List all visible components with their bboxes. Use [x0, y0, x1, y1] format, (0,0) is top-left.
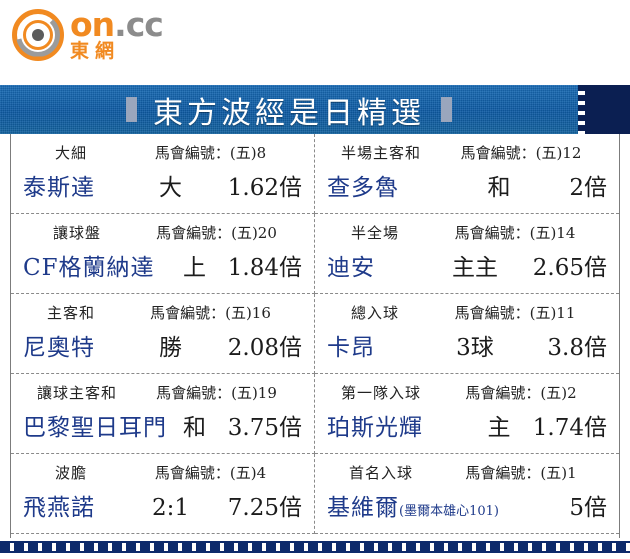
odds-value: 7.25倍: [198, 488, 302, 522]
row-header: 讓球主客和 馬會編號：(五)19: [23, 378, 302, 403]
odds-value: 2倍: [511, 168, 607, 202]
team-name: 珀斯光輝: [327, 408, 487, 442]
odds-value: 2.65倍: [503, 248, 607, 282]
bottom-dashed-strip: [0, 541, 630, 553]
row-header: 總入球 馬會編號：(五)11: [327, 298, 607, 323]
bet-type-label: 首名入球: [327, 462, 435, 483]
bet-type-label: 波膽: [23, 462, 119, 483]
row-header: 首名入球 馬會編號：(五)1: [327, 458, 607, 483]
row-selection: 珀斯光輝 主 1.74倍: [327, 408, 607, 442]
bet-type-label: 讓球主客和: [23, 382, 131, 403]
row-selection: 泰斯達 大 1.62倍: [23, 168, 302, 202]
table-row[interactable]: 第一隊入球 馬會編號：(五)2 珀斯光輝 主 1.74倍: [315, 374, 619, 454]
bottom-white-spacer: [0, 553, 630, 559]
team-name-note: (墨爾本雄心101): [399, 504, 499, 519]
row-selection: 巴黎聖日耳門 和 3.75倍: [23, 408, 302, 442]
row-header: 讓球盤 馬會編號：(五)20: [23, 218, 302, 243]
bet-type-label: 總入球: [327, 302, 423, 323]
jockey-club-number: 馬會編號：(五)8: [119, 142, 302, 163]
selection-choice: 主: [487, 408, 511, 442]
jockey-club-number: 馬會編號：(五)12: [435, 142, 607, 163]
team-name: 尼奧特: [23, 328, 143, 362]
row-selection: 查多魯 和 2倍: [327, 168, 607, 202]
bet-type-label: 讓球盤: [23, 222, 131, 243]
selection-choice: 上: [183, 248, 206, 282]
team-name: 迪安: [327, 248, 447, 282]
odds-value: 2.08倍: [198, 328, 302, 362]
table-row[interactable]: 波膽 馬會編號：(五)4 飛燕諾 2:1 7.25倍: [11, 454, 315, 534]
jockey-club-number: 馬會編號：(五)4: [119, 462, 302, 483]
team-name: 巴黎聖日耳門: [23, 408, 183, 442]
table-row[interactable]: 半全場 馬會編號：(五)14 迪安 主主 2.65倍: [315, 214, 619, 294]
table-row[interactable]: 總入球 馬會編號：(五)11 卡昂 3球 3.8倍: [315, 294, 619, 374]
bet-type-label: 半全場: [327, 222, 423, 243]
logo-text-on: on: [70, 5, 114, 44]
team-name: 查多魯: [327, 168, 487, 202]
jockey-club-number: 馬會編號：(五)20: [131, 222, 302, 243]
odds-value: 1.62倍: [198, 168, 302, 202]
banner-square-right-icon: [441, 97, 452, 122]
logo-wordmark: on.cc 東網: [70, 8, 163, 61]
selection-choice: 勝: [143, 328, 198, 362]
row-selection: 基維爾(墨爾本雄心101) 5倍: [327, 488, 607, 522]
row-selection: 迪安 主主 2.65倍: [327, 248, 607, 282]
banner-dash-separator: [578, 85, 585, 134]
row-header: 大細 馬會編號：(五)8: [23, 138, 302, 163]
team-name: 基維爾(墨爾本雄心101): [327, 488, 499, 522]
jockey-club-number: 馬會編號：(五)19: [131, 382, 302, 403]
selection-choice: 3球: [447, 328, 503, 362]
oncc-logo[interactable]: on.cc 東網: [12, 8, 163, 61]
selection-choice: 和: [183, 408, 206, 442]
selection-choice: 和: [487, 168, 511, 202]
row-header: 半場主客和 馬會編號：(五)12: [327, 138, 607, 163]
logo-text-chinese: 東網: [70, 42, 163, 61]
row-header: 半全場 馬會編號：(五)14: [327, 218, 607, 243]
odds-value: 1.84倍: [206, 248, 302, 282]
team-name: 飛燕諾: [23, 488, 143, 522]
table-row[interactable]: 讓球主客和 馬會編號：(五)19 巴黎聖日耳門 和 3.75倍: [11, 374, 315, 454]
jockey-club-number: 馬會編號：(五)2: [435, 382, 607, 403]
table-row[interactable]: 半場主客和 馬會編號：(五)12 查多魯 和 2倍: [315, 134, 619, 214]
selection-choice: 2:1: [143, 495, 198, 521]
table-row[interactable]: 大細 馬會編號：(五)8 泰斯達 大 1.62倍: [11, 134, 315, 214]
site-logo-area: on.cc 東網: [0, 0, 630, 78]
bet-type-label: 主客和: [23, 302, 119, 323]
oncc-circle-logo-icon: [12, 9, 64, 61]
table-row[interactable]: 讓球盤 馬會編號：(五)20 CF格蘭納達 上 1.84倍: [11, 214, 315, 294]
selections-table: 大細 馬會編號：(五)8 泰斯達 大 1.62倍 半場主客和 馬會編號：(五)1…: [10, 134, 620, 538]
odds-value: 3.8倍: [503, 328, 607, 362]
row-header: 主客和 馬會編號：(五)16: [23, 298, 302, 323]
bet-type-label: 大細: [23, 142, 119, 163]
row-selection: 尼奧特 勝 2.08倍: [23, 328, 302, 362]
team-name: 泰斯達: [23, 168, 143, 202]
row-selection: 飛燕諾 2:1 7.25倍: [23, 488, 302, 522]
team-name-main: 基維爾: [327, 495, 399, 521]
bet-type-label: 半場主客和: [327, 142, 435, 163]
selection-choice: 大: [143, 168, 198, 202]
page-title: 東方波經是日精選: [153, 88, 425, 132]
row-selection: CF格蘭納達 上 1.84倍: [23, 248, 302, 282]
section-banner: 東方波經是日精選: [0, 85, 630, 134]
banner-navy-block: [585, 85, 630, 134]
row-header: 第一隊入球 馬會編號：(五)2: [327, 378, 607, 403]
team-name: CF格蘭納達: [23, 248, 183, 282]
selection-choice: 主主: [447, 248, 503, 282]
jockey-club-number: 馬會編號：(五)14: [423, 222, 607, 243]
jockey-club-number: 馬會編號：(五)11: [423, 302, 607, 323]
selections-grid: 大細 馬會編號：(五)8 泰斯達 大 1.62倍 半場主客和 馬會編號：(五)1…: [11, 134, 619, 538]
odds-value: 1.74倍: [511, 408, 607, 442]
odds-value: 5倍: [537, 488, 607, 522]
jockey-club-number: 馬會編號：(五)16: [119, 302, 302, 323]
banner-title-row: 東方波經是日精選: [0, 85, 578, 134]
row-header: 波膽 馬會編號：(五)4: [23, 458, 302, 483]
bet-type-label: 第一隊入球: [327, 382, 435, 403]
table-row[interactable]: 主客和 馬會編號：(五)16 尼奧特 勝 2.08倍: [11, 294, 315, 374]
jockey-club-number: 馬會編號：(五)1: [435, 462, 607, 483]
banner-square-left-icon: [126, 97, 137, 122]
table-row[interactable]: 首名入球 馬會編號：(五)1 基維爾(墨爾本雄心101) 5倍: [315, 454, 619, 534]
odds-value: 3.75倍: [206, 408, 302, 442]
team-name: 卡昂: [327, 328, 447, 362]
row-selection: 卡昂 3球 3.8倍: [327, 328, 607, 362]
logo-text-cc: .cc: [114, 5, 163, 44]
